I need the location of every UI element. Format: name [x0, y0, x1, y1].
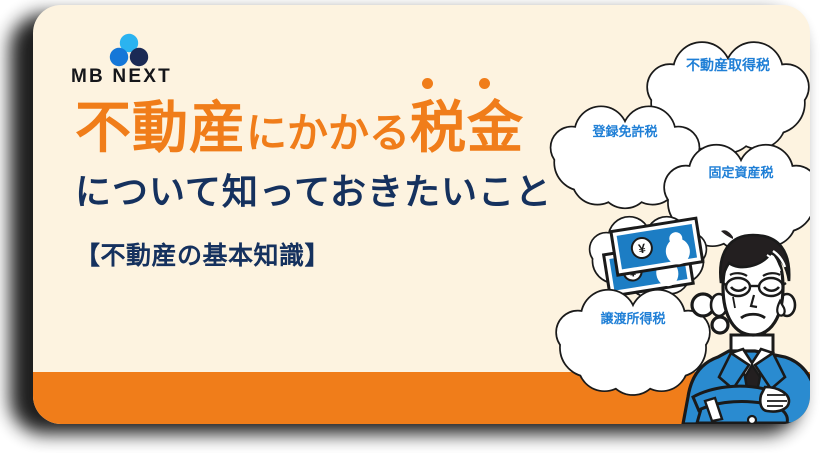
title-keyword-tax: 税金: [410, 100, 524, 156]
banner-card: MB NEXT 不動産にかかる税金 について知っておきたいこと 【不動産の基本知…: [33, 5, 810, 424]
three-circles-logo-icon: [107, 33, 151, 67]
slide-canvas: MB NEXT 不動産にかかる税金 について知っておきたいこと 【不動産の基本知…: [0, 0, 833, 453]
title-particle: にかかる: [246, 110, 410, 156]
headline-subtitle: 【不動産の基本知識】: [75, 244, 555, 269]
title-line-2: について知っておきたいこと: [75, 174, 555, 210]
banknotes-icon: ¥ ¥: [604, 218, 703, 296]
illustration-group: 不動産取得税 登録免許税: [533, 5, 810, 424]
bubble-label-1: 不動産取得税: [686, 57, 770, 73]
headline-block: 不動産にかかる税金 について知っておきたいこと 【不動産の基本知識】: [75, 100, 555, 269]
illustration-svg: 不動産取得税 登録免許税: [533, 5, 810, 424]
bubble-money: ¥ ¥: [590, 218, 705, 297]
bubble-label-3: 固定資産税: [708, 165, 773, 180]
bubble-joto-shotokuzei: 譲渡所得税: [557, 291, 709, 395]
brand-logo-text: MB NEXT: [71, 67, 221, 86]
bubble-label-2: 登録免許税: [591, 124, 657, 139]
title-line-1: 不動産にかかる税金: [75, 100, 555, 156]
bubble-label-5: 譲渡所得税: [600, 311, 665, 326]
title-keyword-property: 不動産: [75, 96, 246, 159]
brand-logo[interactable]: MB NEXT: [71, 33, 221, 95]
